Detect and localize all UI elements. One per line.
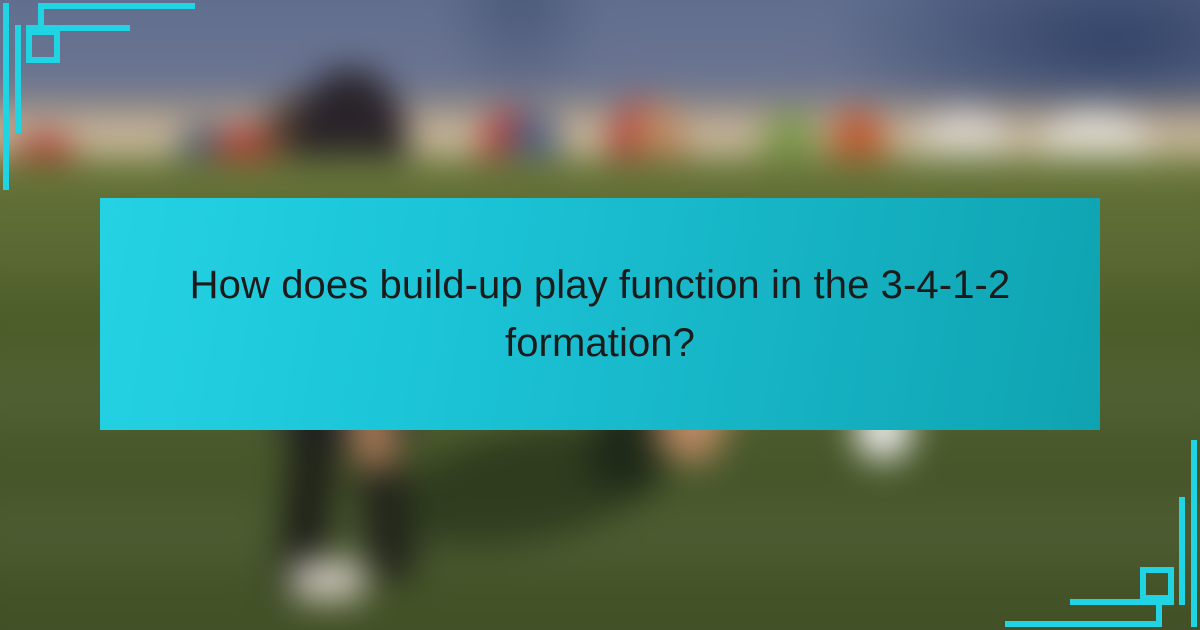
crowd-blob-tan-head	[632, 102, 682, 158]
player-head-dark	[310, 72, 396, 158]
page-title: How does build-up play function in the 3…	[156, 256, 1044, 372]
ornament-bar-left-short	[15, 25, 21, 133]
corner-ornament-bottom-right	[1000, 430, 1200, 630]
ornament-inner-square	[1140, 567, 1174, 601]
player-boot-white	[290, 560, 366, 600]
ornament-bar-left-long	[3, 3, 9, 190]
ornament-bar-left-short	[1179, 497, 1185, 605]
ornament-bar-left-long	[1191, 440, 1197, 627]
ornament-bar-top-short	[48, 25, 130, 31]
ornament-bar-top-long	[38, 3, 195, 9]
ornament-bar-top-long	[1005, 621, 1162, 627]
caption-banner: How does build-up play function in the 3…	[100, 198, 1100, 430]
ornament-inner-square	[26, 29, 60, 63]
share-card: How does build-up play function in the 3…	[0, 0, 1200, 630]
corner-ornament-top-left	[0, 0, 200, 200]
